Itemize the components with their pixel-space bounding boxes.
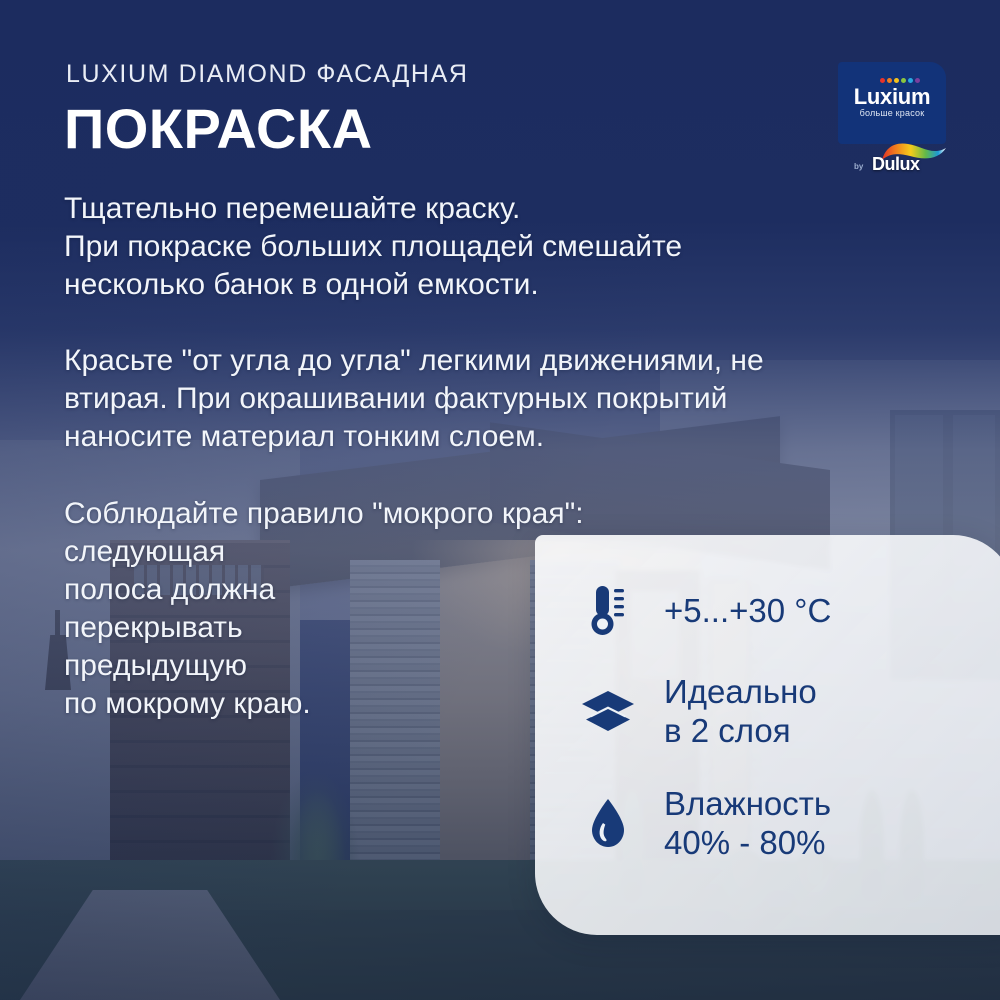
- spec-row-temperature: +5...+30 °C: [580, 583, 831, 639]
- water-drop-icon: [580, 797, 636, 851]
- spec-row-label: +5...+30 °C: [664, 592, 831, 631]
- parent-brand-name: Dulux: [872, 154, 920, 175]
- poster-canvas: LUXIUM DIAMOND ФАСАДНАЯ ПОКРАСКА Luxium …: [0, 0, 1000, 1000]
- spec-card: +5...+30 °C Идеально в 2 слоя: [535, 535, 1000, 935]
- logo-color-dots: [880, 78, 920, 83]
- thermometer-icon: [580, 583, 636, 639]
- logo-tagline: больше красок: [848, 108, 936, 118]
- spec-row-humidity: Влажность 40% - 80%: [580, 785, 831, 863]
- spec-row-coats: Идеально в 2 слоя: [580, 673, 831, 751]
- instruction-paragraph: Красьте "от угла до угла" легкими движен…: [64, 342, 944, 456]
- instruction-paragraph: Тщательно перемешайте краску. При покрас…: [64, 190, 944, 304]
- spec-row-label: Идеально в 2 слоя: [664, 673, 817, 751]
- page-title: ПОКРАСКА: [64, 96, 373, 161]
- by-dulux-lockup: by Dulux: [854, 146, 960, 180]
- brand-logo: Luxium больше красок by Dulux: [838, 62, 960, 182]
- logo-brand-name: Luxium: [848, 84, 936, 110]
- spec-row-label: Влажность 40% - 80%: [664, 785, 831, 863]
- layers-icon: [580, 689, 636, 735]
- product-eyebrow: LUXIUM DIAMOND ФАСАДНАЯ: [66, 60, 469, 89]
- by-label: by: [854, 162, 863, 171]
